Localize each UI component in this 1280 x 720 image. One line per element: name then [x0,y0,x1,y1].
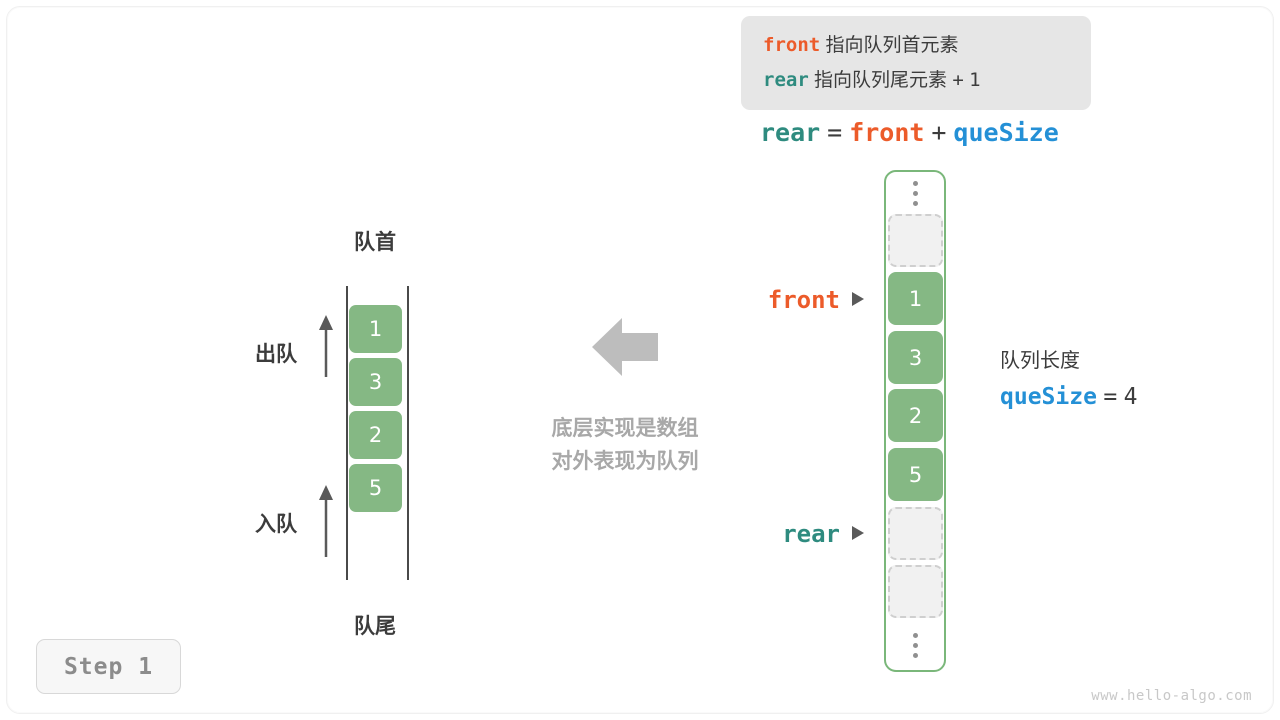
front-definition-line: front 指向队列首元素 [763,28,1091,63]
dequeue-label: 出队 [255,338,297,368]
queue-cell: 5 [349,464,402,512]
front-definition-text: 指向队列首元素 [825,34,958,56]
enqueue-arrow-icon [318,485,334,557]
quesize-var: queSize [1000,384,1097,410]
front-pointer-arrow-icon [852,292,864,306]
array-slot: 2 [888,389,943,442]
rear-definition-text: 指向队列尾元素 [814,69,947,91]
rear-pointer-arrow-icon [852,526,864,540]
quesize-value: 4 [1124,384,1138,410]
array-slot [888,565,943,618]
queue-cell: 1 [349,305,402,353]
formula-plus: + [931,118,946,147]
diagram-canvas: front 指向队列首元素 rear 指向队列尾元素 + 1 rear = fr… [0,0,1280,720]
array-slot: 5 [888,448,943,501]
queue-head-label: 队首 [310,226,440,256]
rear-definition-line: rear 指向队列尾元素 + 1 [763,63,1091,98]
formula-rear: rear [760,118,820,147]
queue-rail-right [407,286,409,580]
rear-pointer-label: rear [700,520,840,548]
rear-term: rear [763,69,809,91]
front-pointer-label: front [700,286,840,314]
center-caption: 底层实现是数组 对外表现为队列 [510,412,740,478]
step-badge: Step 1 [36,639,181,694]
array-slot: 3 [888,331,943,384]
center-caption-line1: 底层实现是数组 [510,412,740,445]
queue-size-expression: queSize = 4 [1000,378,1137,415]
rear-formula: rear = front + queSize [760,118,1059,148]
pointer-definition-box: front 指向队列首元素 rear 指向队列尾元素 + 1 [741,16,1091,110]
array-slot [888,214,943,267]
left-arrow-icon [592,318,658,376]
formula-equals: = [827,118,842,147]
queue-cell: 2 [349,411,402,459]
quesize-equals: = [1103,384,1117,410]
queue-cell: 3 [349,358,402,406]
queue-size-label: 队列长度 [1000,342,1137,378]
array-slot [888,507,943,560]
array-bottom-ellipsis-icon [888,627,943,663]
enqueue-label: 入队 [255,508,297,538]
array-top-ellipsis-icon [888,175,943,211]
array-slot: 1 [888,272,943,325]
watermark: www.hello-algo.com [1091,688,1252,704]
queue-tail-label: 队尾 [310,610,440,640]
front-term: front [763,34,820,56]
rear-definition-plus: + [952,69,963,91]
queue-size-note: 队列长度 queSize = 4 [1000,342,1137,415]
formula-quesize: queSize [953,118,1058,147]
queue-rail-left [346,286,348,580]
rear-definition-one: 1 [969,69,980,91]
center-caption-line2: 对外表现为队列 [510,445,740,478]
dequeue-arrow-icon [318,315,334,377]
formula-front: front [849,118,924,147]
